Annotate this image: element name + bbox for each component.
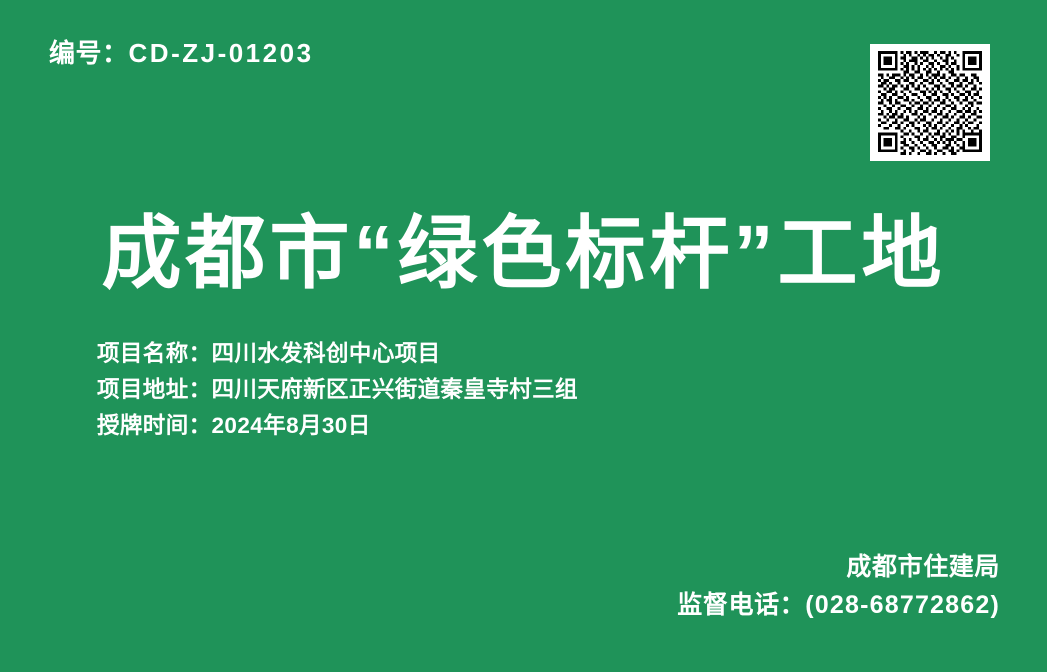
supervision-phone-label: 监督电话： <box>677 591 805 619</box>
page-title: 成都市“绿色标杆”工地 <box>0 206 1047 302</box>
serial-number-label: 编号： <box>49 38 129 68</box>
info-row-award-date: 授牌时间：2024年8月30日 <box>97 408 578 444</box>
info-row-project-name: 项目名称：四川水发科创中心项目 <box>97 336 578 372</box>
info-value-project-address: 四川天府新区正兴街道秦皇寺村三组 <box>212 377 578 402</box>
info-label-award-date: 授牌时间： <box>97 413 212 438</box>
qr-code-icon[interactable] <box>878 51 982 155</box>
qr-code-panel[interactable] <box>870 44 990 161</box>
info-value-award-date: 2024年8月30日 <box>212 413 371 438</box>
info-row-project-address: 项目地址：四川天府新区正兴街道秦皇寺村三组 <box>97 372 578 408</box>
green-benchmark-site-plaque: 编号：CD-ZJ-01203 <box>0 0 1047 672</box>
issuer-block: 成都市住建局 监督电话：(028-68772862) <box>677 548 1000 624</box>
info-label-project-name: 项目名称： <box>97 341 212 366</box>
supervision-phone-number: (028-68772862) <box>805 591 1000 619</box>
supervision-phone: 监督电话：(028-68772862) <box>677 586 1000 624</box>
issuer-name: 成都市住建局 <box>677 548 1000 586</box>
info-value-project-name: 四川水发科创中心项目 <box>212 341 441 366</box>
project-info: 项目名称：四川水发科创中心项目 项目地址：四川天府新区正兴街道秦皇寺村三组 授牌… <box>97 336 578 444</box>
info-label-project-address: 项目地址： <box>97 377 212 402</box>
serial-number: 编号：CD-ZJ-01203 <box>49 36 314 70</box>
serial-number-value: CD-ZJ-01203 <box>129 38 314 68</box>
